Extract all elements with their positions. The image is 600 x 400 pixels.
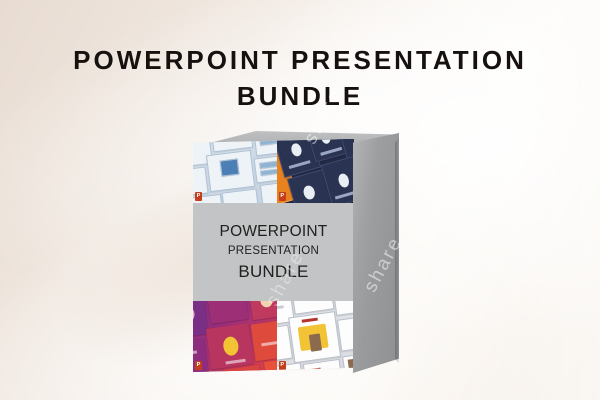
box-front-face: P	[193, 139, 354, 372]
box-thumbnail-strip-bottom: P	[193, 301, 354, 372]
box-label-line-3: BUNDLE	[238, 261, 308, 282]
powerpoint-badge-icon: P	[279, 192, 286, 201]
page-title: POWERPOINT PRESENTATION BUNDLE	[0, 42, 600, 114]
box-side-face	[353, 133, 399, 373]
blue-slide-collage	[193, 139, 277, 203]
navy-slide-collage	[277, 139, 354, 203]
product-mockup-canvas: POWERPOINT PRESENTATION BUNDLE	[0, 0, 600, 400]
box-label-line-1: POWERPOINT	[220, 222, 328, 241]
product-box: P	[188, 128, 408, 376]
box-front-label: POWERPOINT PRESENTATION BUNDLE	[193, 203, 354, 301]
thumbnail-group-white-map-slides: P	[277, 301, 354, 372]
powerpoint-badge-icon: P	[195, 192, 202, 201]
powerpoint-badge-icon: P	[195, 361, 202, 370]
thumbnail-group-blue-slides: P	[193, 139, 277, 203]
powerpoint-badge-icon: P	[279, 361, 286, 370]
box-side-fold-edge	[395, 133, 399, 373]
white-map-slide-collage	[277, 301, 354, 372]
box-label-line-2: PRESENTATION	[228, 243, 319, 259]
thumbnail-group-navy-slides: P	[277, 139, 354, 203]
box-thumbnail-strip-top: P	[193, 139, 354, 203]
purple-slide-collage	[193, 301, 277, 372]
thumbnail-group-purple-slides: P	[193, 301, 277, 372]
